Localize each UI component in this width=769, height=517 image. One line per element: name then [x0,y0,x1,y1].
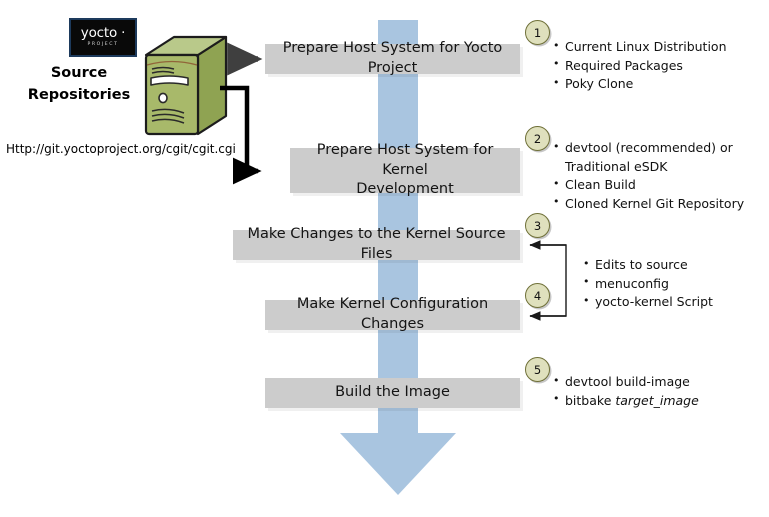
process-box-2-line1: Prepare Host System for Kernel [300,141,510,180]
source-label-line2: Repositories [18,85,140,107]
list-item: menuconfig [583,275,713,294]
yocto-project-logo: yocto · PROJECT [69,18,137,57]
step-circle-4: 4 [525,283,550,308]
step-5-bullet-list: devtool build-image bitbake target_image [553,373,699,410]
list-item: devtool (recommended) or Traditional eSD… [553,139,744,176]
process-box-make-kernel-config-changes[interactable]: Make Kernel Configuration Changes [265,300,520,330]
list-item: bitbake target_image [553,392,699,411]
yocto-logo-wordmark: yocto · [81,27,125,41]
list-item: Edits to source [583,256,713,275]
list-item: Cloned Kernel Git Repository [553,195,744,214]
list-item: Required Packages [553,57,727,76]
process-box-prepare-host-kernel[interactable]: Prepare Host System for Kernel Developme… [290,148,520,193]
source-repositories-label: Source Repositories [18,63,140,107]
step-1-bullet-list: Current Linux Distribution Required Pack… [553,38,727,94]
process-box-build-the-image[interactable]: Build the Image [265,378,520,408]
list-item: Poky Clone [553,75,727,94]
process-box-2-line2: Development [300,180,510,200]
step-circle-3: 3 [525,213,550,238]
step-2-bullet-list: devtool (recommended) or Traditional eSD… [553,139,744,213]
list-item: Current Linux Distribution [553,38,727,57]
step-circle-2: 2 [525,126,550,151]
list-item: devtool build-image [553,373,699,392]
list-item: yocto-kernel Script [583,293,713,312]
flow-arrow-head [340,433,456,495]
source-label-line1: Source [18,63,140,85]
process-box-prepare-host-yocto[interactable]: Prepare Host System for Yocto Project [265,44,520,74]
steps-3-4-bullet-list: Edits to source menuconfig yocto-kernel … [583,256,713,312]
source-repository-url: Http://git.yoctoproject.org/cgit/cgit.cg… [6,142,236,156]
server-icon [136,33,232,141]
yocto-logo-subtext: PROJECT [87,43,118,48]
step-circle-5: 5 [525,357,550,382]
process-box-make-kernel-source-changes[interactable]: Make Changes to the Kernel Source Files [233,230,520,260]
list-item-target-arg: target_image [615,393,698,408]
list-item-command: bitbake [565,393,615,408]
list-item: Clean Build [553,176,744,195]
step-circle-1: 1 [525,20,550,45]
list-item-line1: devtool (recommended) or [565,140,733,155]
list-item-line2: Traditional eSDK [565,158,744,177]
